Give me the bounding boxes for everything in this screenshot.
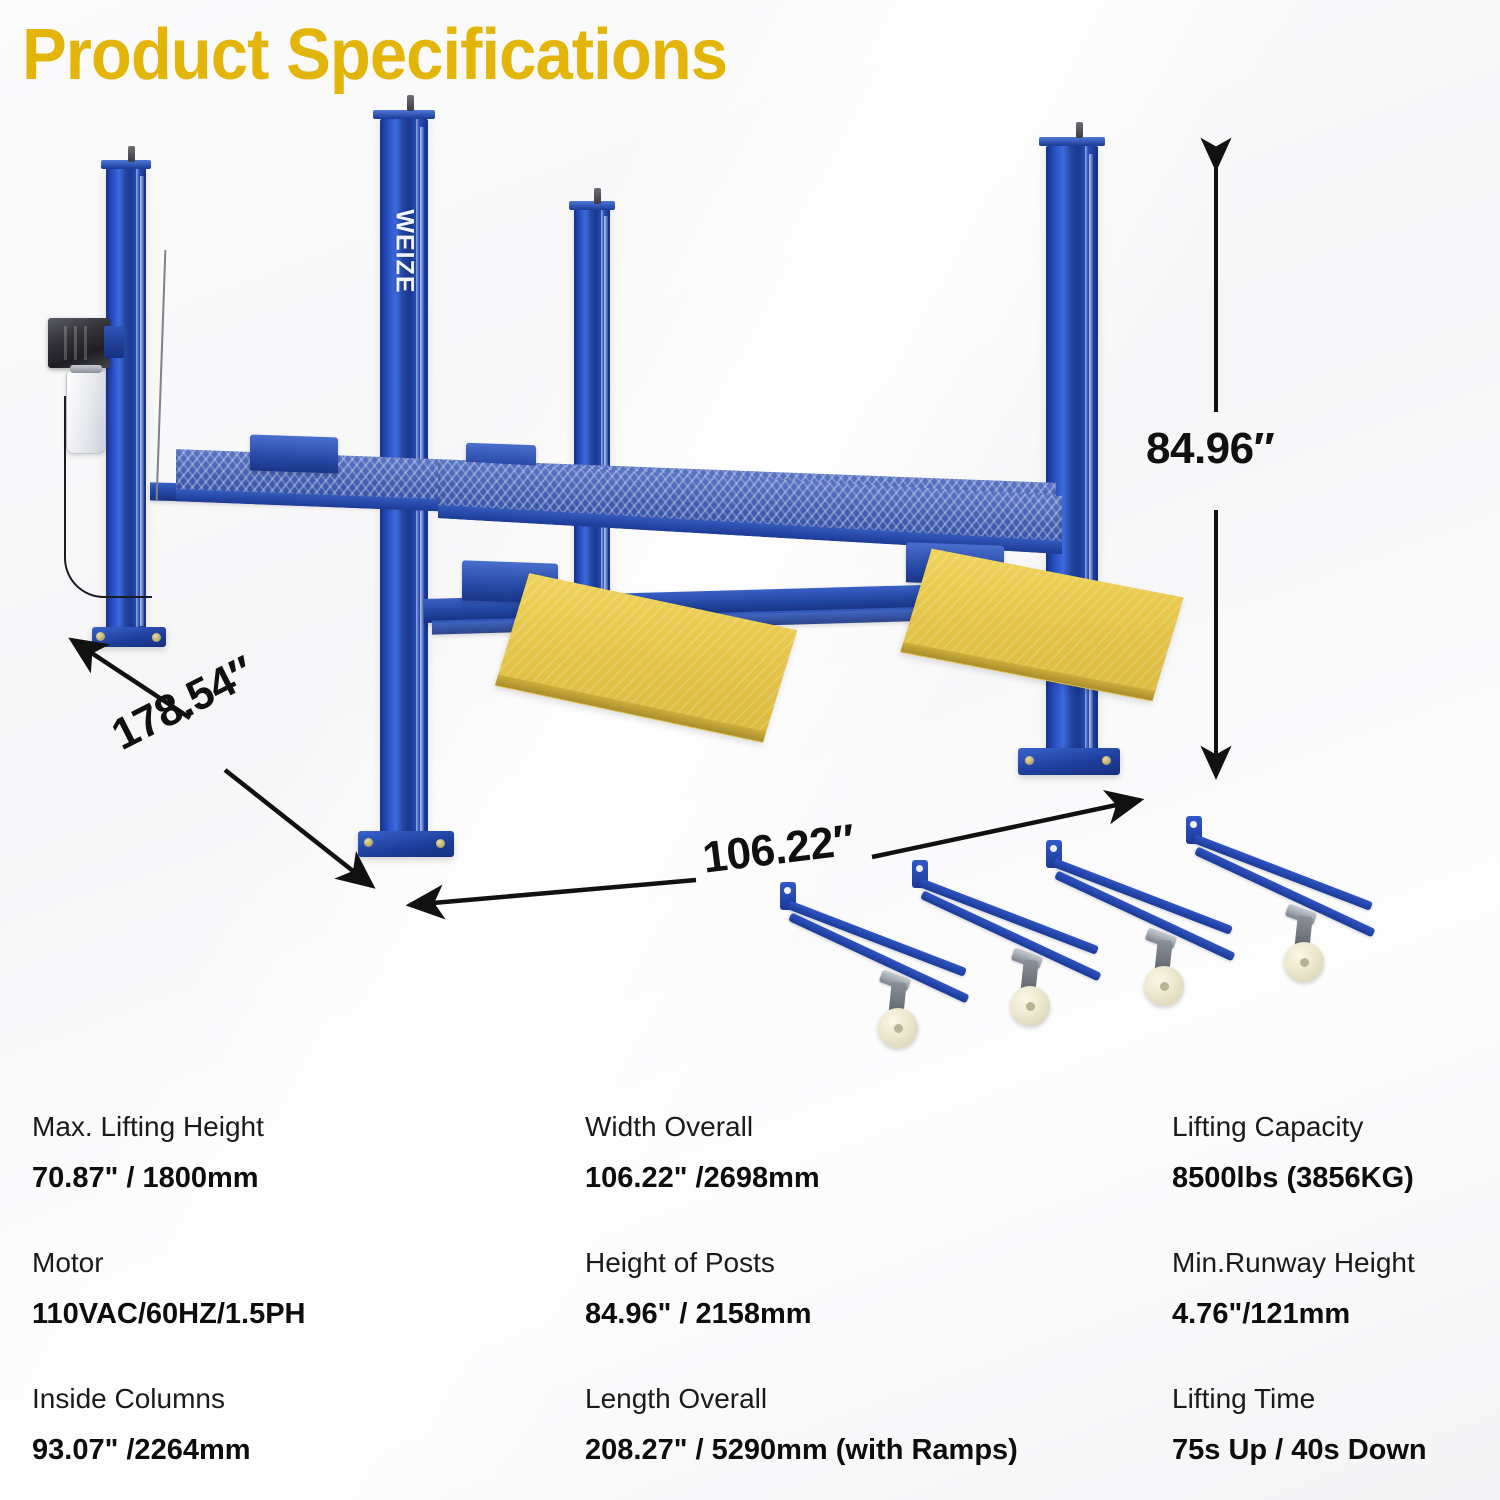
spec-value: 75s Up / 40s Down bbox=[1172, 1436, 1427, 1465]
baseplate-front-left bbox=[358, 831, 454, 857]
spec-value: 8500lbs (3856KG) bbox=[1172, 1164, 1414, 1193]
motor-vent bbox=[84, 326, 87, 360]
anchor-bolt bbox=[152, 633, 161, 642]
spec-value: 4.76"/121mm bbox=[1172, 1300, 1415, 1329]
post-top-bolt bbox=[128, 146, 135, 162]
brand-logo: WEIZE bbox=[390, 192, 419, 312]
dimension-label-height-of-posts: 84.96″ bbox=[1146, 424, 1274, 474]
spec-item-lifting-capacity: Lifting Capacity 8500lbs (3856KG) bbox=[1172, 1113, 1414, 1193]
specifications-table: Max. Lifting Height 70.87" / 1800mm Moto… bbox=[0, 1105, 1500, 1500]
baseplate-rear-left bbox=[92, 627, 166, 647]
spec-item-lifting-time: Lifting Time 75s Up / 40s Down bbox=[1172, 1385, 1427, 1465]
spec-value: 110VAC/60HZ/1.5PH bbox=[32, 1300, 306, 1329]
spec-label: Length Overall bbox=[585, 1385, 1018, 1413]
spec-value: 208.27" / 5290mm (with Ramps) bbox=[585, 1436, 1018, 1465]
caster-wheel bbox=[1010, 986, 1050, 1026]
motor-vent bbox=[64, 326, 67, 360]
caster-arm-upper bbox=[1192, 834, 1373, 910]
ramp-right bbox=[900, 549, 1184, 702]
spec-item-width-overall: Width Overall 106.22" /2698mm bbox=[585, 1113, 820, 1193]
caster-tab-hole bbox=[916, 865, 923, 872]
caster-wheel bbox=[1144, 966, 1184, 1006]
post-rear-right bbox=[574, 208, 610, 632]
anchor-bolt bbox=[96, 632, 105, 641]
hydraulic-power-unit bbox=[48, 318, 188, 518]
spec-label: Height of Posts bbox=[585, 1249, 812, 1277]
spec-label: Min.Runway Height bbox=[1172, 1249, 1415, 1277]
caster-tab-hole bbox=[784, 887, 791, 894]
post-cap-plate bbox=[101, 160, 151, 169]
spec-value: 93.07" /2264mm bbox=[32, 1436, 251, 1465]
anchor-bolt bbox=[1102, 756, 1111, 765]
reservoir-collar bbox=[70, 365, 102, 373]
post-cable-track bbox=[604, 216, 608, 622]
spec-value: 106.22" /2698mm bbox=[585, 1164, 820, 1193]
spec-value: 84.96" / 2158mm bbox=[585, 1300, 812, 1329]
spec-label: Width Overall bbox=[585, 1113, 820, 1141]
motor-block bbox=[48, 318, 110, 368]
wheel-stop-rear-left bbox=[250, 434, 338, 473]
motor-mount-bracket bbox=[104, 326, 124, 358]
page-title: Product Specifications bbox=[22, 14, 727, 96]
post-top-bolt bbox=[594, 188, 601, 204]
hydraulic-hose bbox=[64, 396, 152, 598]
spec-item-min-runway-height: Min.Runway Height 4.76"/121mm bbox=[1172, 1249, 1415, 1329]
spec-label: Max. Lifting Height bbox=[32, 1113, 264, 1141]
spec-item-max-lifting-height: Max. Lifting Height 70.87" / 1800mm bbox=[32, 1113, 264, 1193]
spec-value: 70.87" / 1800mm bbox=[32, 1164, 264, 1193]
anchor-bolt bbox=[1025, 756, 1034, 765]
spec-label: Motor bbox=[32, 1249, 306, 1277]
product-illustration: WEIZE bbox=[0, 100, 1500, 1100]
spec-item-inside-columns: Inside Columns 93.07" /2264mm bbox=[32, 1385, 251, 1465]
caster-wheel bbox=[1284, 942, 1324, 982]
caster-tab-hole bbox=[1190, 821, 1197, 828]
post-cap-plate bbox=[1039, 137, 1105, 146]
spec-item-height-of-posts: Height of Posts 84.96" / 2158mm bbox=[585, 1249, 812, 1329]
spec-item-motor: Motor 110VAC/60HZ/1.5PH bbox=[32, 1249, 306, 1329]
post-top-bolt bbox=[1076, 122, 1083, 138]
motor-vent bbox=[74, 326, 77, 360]
spec-label: Lifting Capacity bbox=[1172, 1113, 1414, 1141]
spec-label: Inside Columns bbox=[32, 1385, 251, 1413]
post-cap-plate bbox=[569, 201, 615, 210]
caster-arm-lower bbox=[1194, 846, 1375, 937]
anchor-bolt bbox=[364, 838, 373, 847]
anchor-bolt bbox=[436, 839, 445, 848]
post-top-bolt bbox=[407, 95, 414, 111]
post-cap-plate bbox=[373, 110, 435, 119]
baseplate-front-right bbox=[1018, 748, 1120, 775]
spec-label: Lifting Time bbox=[1172, 1385, 1427, 1413]
caster-accessory-4 bbox=[1186, 800, 1396, 990]
spec-item-length-overall: Length Overall 208.27" / 5290mm (with Ra… bbox=[585, 1385, 1018, 1465]
caster-tab-hole bbox=[1050, 845, 1057, 852]
